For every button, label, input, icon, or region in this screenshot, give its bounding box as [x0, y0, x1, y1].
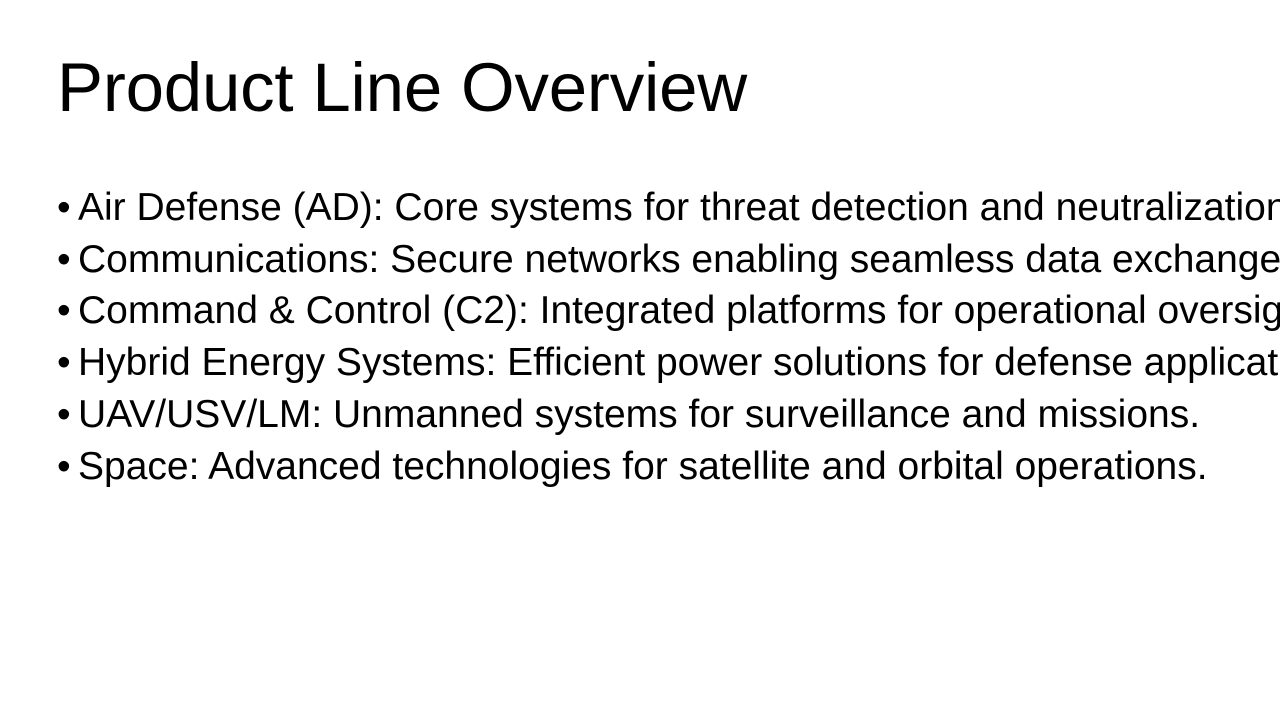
list-item-label: UAV/USV/LM: Unmanned systems for surveil…: [78, 389, 1200, 441]
list-item-label: Command & Control (C2): Integrated platf…: [78, 285, 1280, 337]
slide-canvas: Product Line Overview • Air Defense (AD)…: [0, 0, 1280, 720]
bullet-point-icon: •: [57, 337, 78, 389]
list-item: • Space: Advanced technologies for satel…: [57, 441, 1237, 493]
bullet-point-icon: •: [57, 441, 78, 493]
bullet-point-icon: •: [57, 285, 78, 337]
list-item-label: Hybrid Energy Systems: Efficient power s…: [78, 337, 1280, 389]
list-item: • Hybrid Energy Systems: Efficient power…: [57, 337, 1237, 389]
bullet-point-icon: •: [57, 182, 78, 234]
list-item: • Command & Control (C2): Integrated pla…: [57, 285, 1237, 337]
list-item-label: Air Defense (AD): Core systems for threa…: [78, 182, 1280, 234]
list-item: • UAV/USV/LM: Unmanned systems for surve…: [57, 389, 1237, 441]
bullet-list: • Air Defense (AD): Core systems for thr…: [57, 182, 1237, 492]
list-item: • Air Defense (AD): Core systems for thr…: [57, 182, 1237, 234]
list-item-label: Space: Advanced technologies for satelli…: [78, 441, 1208, 493]
bullet-point-icon: •: [57, 234, 78, 286]
page-title: Product Line Overview: [57, 46, 1227, 130]
list-item-label: Communications: Secure networks enabling…: [78, 234, 1280, 286]
bullet-point-icon: •: [57, 389, 78, 441]
list-item: • Communications: Secure networks enabli…: [57, 234, 1237, 286]
